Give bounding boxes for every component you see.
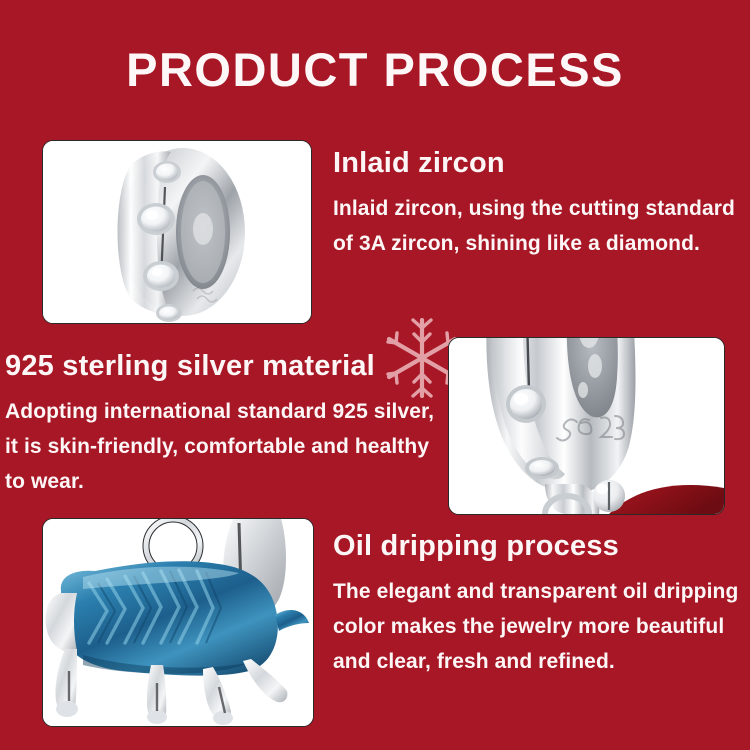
section-inlaid-zircon-text: Inlaid zircon Inlaid zircon, using the c… xyxy=(333,145,745,261)
section-body-925-silver: Adopting international standard 925 silv… xyxy=(5,394,435,499)
product-process-infographic: PRODUCT PROCESS xyxy=(0,0,750,750)
section-body-oil-dripping: The elegant and transparent oil dripping… xyxy=(333,574,745,679)
zircon-stone xyxy=(153,161,181,183)
section-body-inlaid-zircon: Inlaid zircon, using the cutting standar… xyxy=(333,191,745,261)
zircon-stone xyxy=(506,385,546,423)
section-oil-dripping-text: Oil dripping process The elegant and tra… xyxy=(333,528,745,679)
zircon-stone xyxy=(156,304,182,322)
photo-card-oil-dripping xyxy=(42,518,314,727)
silver-bead xyxy=(593,480,625,512)
section-heading-inlaid-zircon: Inlaid zircon xyxy=(333,145,745,181)
page-title: PRODUCT PROCESS xyxy=(0,42,750,98)
zircon-stone xyxy=(137,203,175,235)
blue-enamel-dog-charm-photo xyxy=(43,519,313,726)
section-925-silver-text: 925 sterling silver material Adopting in… xyxy=(5,348,435,499)
photo-card-925-silver xyxy=(448,337,725,515)
zircon-stone xyxy=(525,457,559,479)
silver-zircon-spacer-bead-photo xyxy=(43,141,311,323)
s925-hallmark-macro-photo xyxy=(449,338,724,514)
zircon-stone xyxy=(143,261,179,291)
section-heading-oil-dripping: Oil dripping process xyxy=(333,528,745,564)
photo-card-inlaid-zircon xyxy=(42,140,312,324)
section-heading-925-silver: 925 sterling silver material xyxy=(5,348,435,384)
